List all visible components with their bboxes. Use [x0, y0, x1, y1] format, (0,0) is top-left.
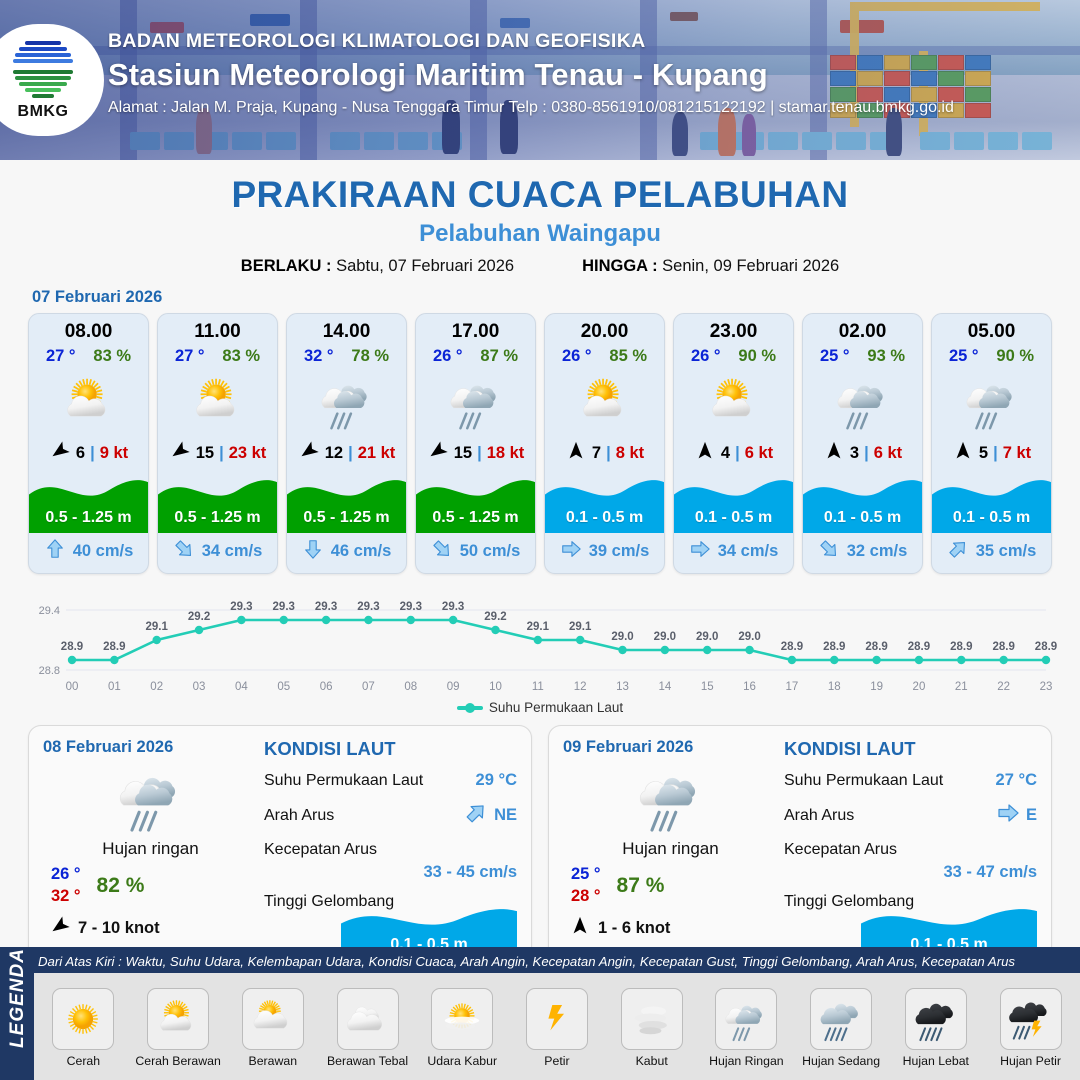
card-wave: 0.5 - 1.25 m	[29, 471, 148, 533]
legend-item-label: Udara Kabur	[427, 1054, 497, 1068]
card-temperature: 25 °	[949, 347, 979, 366]
panel-wind: 1 - 6 knot	[563, 915, 778, 942]
card-humidity: 83 %	[93, 347, 131, 366]
panel-temp-min: 25 °	[571, 865, 601, 884]
panel-sea-title: KONDISI LAUT	[784, 738, 1037, 760]
legend-item-label: Hujan Sedang	[802, 1054, 880, 1068]
card-gust: 18 kt	[487, 444, 525, 463]
current-direction-arrow-icon	[173, 538, 195, 565]
card-current: 35 cm/s	[932, 533, 1051, 573]
card-temperature: 26 °	[433, 347, 463, 366]
svg-text:28.8: 28.8	[39, 665, 60, 677]
card-wind: 4 | 6 kt	[674, 438, 793, 471]
legend-icon-box	[810, 988, 872, 1050]
card-humidity: 90 %	[996, 347, 1034, 366]
legend-icon-box	[147, 988, 209, 1050]
daily-forecast-panel: 08 Februari 2026 Hujan ringan 26 ° 32 °	[28, 725, 532, 973]
panel-humidity: 82 %	[97, 874, 145, 898]
card-current: 39 cm/s	[545, 533, 664, 573]
svg-text:29.0: 29.0	[654, 631, 676, 643]
card-temp-humidity: 32 ° 78 %	[287, 343, 406, 366]
header-text-block: BADAN METEOROLOGI KLIMATOLOGI DAN GEOFIS…	[108, 30, 954, 117]
panel-wind-direction-arrow-icon	[49, 915, 71, 942]
card-current: 50 cm/s	[416, 533, 535, 573]
panel-current-speed-value: 33 - 45 cm/s	[264, 863, 517, 882]
chart-legend: Suhu Permukaan Laut	[0, 700, 1080, 715]
svg-text:10: 10	[489, 681, 502, 693]
panel-temp-max: 32 °	[51, 887, 81, 906]
svg-text:04: 04	[235, 681, 248, 693]
card-current: 32 cm/s	[803, 533, 922, 573]
legend-item: Hujan Sedang	[796, 988, 886, 1068]
svg-text:00: 00	[66, 681, 79, 693]
svg-text:28.9: 28.9	[950, 641, 972, 653]
forecast-date-label: 07 Februari 2026	[32, 288, 1080, 307]
card-wave-height: 0.5 - 1.25 m	[287, 509, 406, 527]
hingga-group: HINGGA : Senin, 09 Februari 2026	[582, 257, 839, 276]
legend-icon-box	[1000, 988, 1062, 1050]
card-wave-height: 0.5 - 1.25 m	[158, 509, 277, 527]
legend-item: Hujan Ringan	[701, 988, 791, 1068]
berlaku-group: BERLAKU : Sabtu, 07 Februari 2026	[241, 257, 514, 276]
card-wind-separator: |	[477, 444, 482, 463]
card-humidity: 85 %	[609, 347, 647, 366]
hourly-forecast-card: 17.00 26 ° 87 % 15 | 18 kt	[415, 313, 536, 574]
card-temperature: 32 °	[304, 347, 334, 366]
card-temperature: 27 °	[175, 347, 205, 366]
panel-current-dir-value: E	[996, 801, 1037, 830]
card-temp-humidity: 27 ° 83 %	[158, 343, 277, 366]
card-temperature: 26 °	[691, 347, 721, 366]
svg-text:29.3: 29.3	[442, 601, 464, 613]
panel-current-arrow-icon	[996, 801, 1020, 830]
panel-condition: Hujan ringan	[43, 839, 258, 859]
legend-icon-box	[242, 988, 304, 1050]
card-wind-separator: |	[219, 444, 224, 463]
card-wind: 7 | 8 kt	[545, 438, 664, 471]
svg-text:29.3: 29.3	[315, 601, 337, 613]
header-banner: BMKG BADAN METEOROLOGI KLIMATOLOGI DAN G…	[0, 0, 1080, 160]
svg-text:29.3: 29.3	[357, 601, 379, 613]
svg-text:28.9: 28.9	[823, 641, 845, 653]
panel-condition: Hujan ringan	[563, 839, 778, 859]
panel-wind-speed: 7 - 10 knot	[78, 919, 160, 938]
card-wind-separator: |	[864, 444, 869, 463]
panel-current-speed-row: Kecepatan Arus	[264, 841, 517, 859]
card-wind-speed: 7	[592, 444, 601, 463]
panel-current-speed-row: Kecepatan Arus	[784, 841, 1037, 859]
panel-current-dir-label: Arah Arus	[264, 807, 334, 825]
card-temp-humidity: 25 ° 93 %	[803, 343, 922, 366]
card-wave-height: 0.5 - 1.25 m	[416, 509, 535, 527]
hourly-forecast-card: 05.00 25 ° 90 % 5 | 7 kt	[931, 313, 1052, 574]
card-current: 40 cm/s	[29, 533, 148, 573]
card-weather-icon	[545, 366, 664, 438]
panel-sst-label: Suhu Permukaan Laut	[264, 772, 423, 790]
svg-text:07: 07	[362, 681, 375, 693]
card-weather-icon	[158, 366, 277, 438]
panel-current-speed-label: Kecepatan Arus	[784, 841, 897, 859]
card-time: 23.00	[674, 314, 793, 343]
weather-infographic: BMKG BADAN METEOROLOGI KLIMATOLOGI DAN G…	[0, 0, 1080, 1080]
card-temp-humidity: 26 ° 90 %	[674, 343, 793, 366]
chart-legend-label: Suhu Permukaan Laut	[489, 700, 623, 715]
legend-item-label: Hujan Lebat	[903, 1054, 969, 1068]
svg-text:11: 11	[532, 681, 544, 693]
wind-direction-arrow-icon	[694, 440, 716, 467]
card-current-speed: 46 cm/s	[331, 542, 392, 561]
current-direction-arrow-icon	[818, 538, 840, 565]
card-wave-height: 0.1 - 0.5 m	[545, 509, 664, 527]
card-temp-humidity: 27 ° 83 %	[29, 343, 148, 366]
panel-current-speed-label: Kecepatan Arus	[264, 841, 377, 859]
panel-wind: 7 - 10 knot	[43, 915, 258, 942]
card-wind-speed: 6	[76, 444, 85, 463]
card-wind-separator: |	[735, 444, 740, 463]
panel-right: KONDISI LAUT Suhu Permukaan Laut 29 °C A…	[258, 738, 517, 962]
svg-text:17: 17	[786, 681, 799, 693]
legend-item: Petir	[512, 988, 602, 1068]
svg-text:28.9: 28.9	[908, 641, 930, 653]
berlaku-label: BERLAKU :	[241, 257, 332, 275]
panel-weather-icon	[563, 759, 778, 837]
svg-text:05: 05	[277, 681, 290, 693]
card-wind: 12 | 21 kt	[287, 438, 406, 471]
panel-date: 09 Februari 2026	[563, 738, 778, 757]
legend-item: Berawan Tebal	[323, 988, 413, 1068]
current-direction-arrow-icon	[560, 538, 582, 565]
svg-text:29.1: 29.1	[527, 621, 550, 633]
card-temperature: 26 °	[562, 347, 592, 366]
station-address: Alamat : Jalan M. Praja, Kupang - Nusa T…	[108, 99, 954, 117]
panel-temps: 26 ° 32 °	[51, 865, 81, 906]
card-temp-humidity: 26 ° 87 %	[416, 343, 535, 366]
berlaku-value: Sabtu, 07 Februari 2026	[336, 257, 514, 275]
legend-item-label: Berawan Tebal	[327, 1054, 408, 1068]
page-title-block: PRAKIRAAN CUACA PELABUHAN Pelabuhan Wain…	[0, 174, 1080, 276]
card-wave: 0.1 - 0.5 m	[932, 471, 1051, 533]
wind-direction-arrow-icon	[565, 440, 587, 467]
legend-item-label: Cerah Berawan	[135, 1054, 220, 1068]
svg-text:28.9: 28.9	[781, 641, 803, 653]
card-wind-speed: 4	[721, 444, 730, 463]
wind-direction-arrow-icon	[823, 440, 845, 467]
card-humidity: 90 %	[738, 347, 776, 366]
card-time: 11.00	[158, 314, 277, 343]
card-temperature: 25 °	[820, 347, 850, 366]
legend-item-label: Hujan Ringan	[709, 1054, 784, 1068]
panel-temp-block: 25 ° 28 ° 87 %	[563, 865, 778, 906]
svg-text:28.9: 28.9	[992, 641, 1014, 653]
card-gust: 9 kt	[100, 444, 128, 463]
card-wind-separator: |	[90, 444, 95, 463]
card-current-speed: 50 cm/s	[460, 542, 521, 561]
card-wave: 0.1 - 0.5 m	[803, 471, 922, 533]
legend-items-row: Cerah Cerah Berawan	[34, 973, 1080, 1080]
panel-sst-row: Suhu Permukaan Laut 29 °C	[264, 771, 517, 790]
card-weather-icon	[29, 366, 148, 438]
station-name: Stasiun Meteorologi Maritim Tenau - Kupa…	[108, 57, 954, 93]
card-wave: 0.5 - 1.25 m	[158, 471, 277, 533]
svg-text:29.1: 29.1	[146, 621, 169, 633]
card-gust: 8 kt	[616, 444, 644, 463]
chart-legend-marker-icon	[457, 706, 483, 710]
svg-text:14: 14	[658, 681, 671, 693]
card-gust: 6 kt	[874, 444, 902, 463]
hingga-value: Senin, 09 Februari 2026	[662, 257, 839, 275]
hingga-label: HINGGA :	[582, 257, 657, 275]
panel-weather-icon	[43, 759, 258, 837]
svg-text:29.0: 29.0	[696, 631, 718, 643]
svg-text:22: 22	[997, 681, 1010, 693]
card-gust: 23 kt	[229, 444, 267, 463]
legend-item: Berawan	[228, 988, 318, 1068]
card-wind-speed: 5	[979, 444, 988, 463]
card-current: 34 cm/s	[158, 533, 277, 573]
legend-icon-box	[337, 988, 399, 1050]
card-wind-separator: |	[993, 444, 998, 463]
card-wave: 0.1 - 0.5 m	[545, 471, 664, 533]
daily-forecast-panels: 08 Februari 2026 Hujan ringan 26 ° 32 °	[0, 715, 1080, 973]
legend-item: Cerah	[38, 988, 128, 1068]
card-wind-speed: 12	[325, 444, 343, 463]
card-time: 08.00	[29, 314, 148, 343]
card-humidity: 87 %	[480, 347, 518, 366]
card-weather-icon	[416, 366, 535, 438]
card-weather-icon	[287, 366, 406, 438]
legend-item-label: Kabut	[636, 1054, 668, 1068]
wind-direction-arrow-icon	[49, 440, 71, 467]
panel-sst-value: 29 °C	[476, 771, 517, 790]
svg-text:09: 09	[447, 681, 460, 693]
agency-name: BADAN METEOROLOGI KLIMATOLOGI DAN GEOFIS…	[108, 30, 954, 53]
svg-text:29.1: 29.1	[569, 621, 592, 633]
svg-text:29.0: 29.0	[738, 631, 760, 643]
legend-item-label: Cerah	[67, 1054, 101, 1068]
panel-current-speed-value: 33 - 47 cm/s	[784, 863, 1037, 882]
card-wave-height: 0.1 - 0.5 m	[674, 509, 793, 527]
legend-side-text: LEGENDA	[7, 948, 29, 1048]
daily-forecast-panel: 09 Februari 2026 Hujan ringan 25 ° 28 °	[548, 725, 1052, 973]
legend-icon-box	[715, 988, 777, 1050]
svg-text:29.2: 29.2	[484, 611, 506, 623]
card-wind-separator: |	[606, 444, 611, 463]
svg-text:06: 06	[320, 681, 333, 693]
legend-side-label: LEGENDA	[0, 947, 34, 1080]
svg-text:20: 20	[913, 681, 926, 693]
current-direction-arrow-icon	[44, 538, 66, 565]
panel-sst-label: Suhu Permukaan Laut	[784, 772, 943, 790]
legend-item-label: Petir	[544, 1054, 569, 1068]
bmkg-logo-icon	[12, 39, 74, 101]
svg-text:29.0: 29.0	[611, 631, 633, 643]
legend-item: Cerah Berawan	[133, 988, 223, 1068]
svg-text:28.9: 28.9	[865, 641, 887, 653]
card-wave: 0.5 - 1.25 m	[416, 471, 535, 533]
card-humidity: 93 %	[867, 347, 905, 366]
card-current-speed: 34 cm/s	[718, 542, 779, 561]
legend-icon-box	[431, 988, 493, 1050]
card-weather-icon	[932, 366, 1051, 438]
panel-current-arrow-icon	[464, 801, 488, 830]
panel-current-dir-value: NE	[464, 801, 517, 830]
panel-right: KONDISI LAUT Suhu Permukaan Laut 27 °C A…	[778, 738, 1037, 962]
sst-chart: 29.428.828.90028.90129.10229.20329.30429…	[20, 588, 1060, 698]
hourly-forecast-card: 23.00 26 ° 90 % 4 | 6 kt	[673, 313, 794, 574]
panel-sst-value: 27 °C	[996, 771, 1037, 790]
card-time: 20.00	[545, 314, 664, 343]
card-time: 17.00	[416, 314, 535, 343]
svg-text:18: 18	[828, 681, 841, 693]
svg-text:28.9: 28.9	[61, 641, 83, 653]
svg-text:08: 08	[404, 681, 417, 693]
svg-text:28.9: 28.9	[103, 641, 125, 653]
card-temp-humidity: 26 ° 85 %	[545, 343, 664, 366]
card-humidity: 78 %	[351, 347, 389, 366]
panel-sst-row: Suhu Permukaan Laut 27 °C	[784, 771, 1037, 790]
bmkg-logo-text: BMKG	[18, 103, 69, 121]
svg-text:29.4: 29.4	[39, 605, 60, 617]
panel-temps: 25 ° 28 °	[571, 865, 601, 906]
panel-wind-speed: 1 - 6 knot	[598, 919, 670, 938]
hourly-forecast-card: 08.00 27 ° 83 % 6 | 9 kt	[28, 313, 149, 574]
legend-item-label: Berawan	[249, 1054, 298, 1068]
legend-item: Udara Kabur	[417, 988, 507, 1068]
legend-icon-box	[526, 988, 588, 1050]
svg-text:16: 16	[743, 681, 756, 693]
card-wind-speed: 15	[454, 444, 472, 463]
hourly-forecast-row: 08.00 27 ° 83 % 6 | 9 kt	[0, 313, 1080, 574]
card-wave-height: 0.1 - 0.5 m	[932, 509, 1051, 527]
svg-text:15: 15	[701, 681, 714, 693]
svg-text:29.3: 29.3	[273, 601, 295, 613]
panel-current-dir-text: E	[1026, 806, 1037, 825]
card-wind: 5 | 7 kt	[932, 438, 1051, 471]
card-wind-separator: |	[348, 444, 353, 463]
current-direction-arrow-icon	[689, 538, 711, 565]
card-wind-speed: 3	[850, 444, 859, 463]
wind-direction-arrow-icon	[169, 440, 191, 467]
hourly-forecast-card: 02.00 25 ° 93 % 3 | 6 kt	[802, 313, 923, 574]
page-subtitle: Pelabuhan Waingapu	[0, 220, 1080, 248]
legend-icon-box	[621, 988, 683, 1050]
legend-item-label: Hujan Petir	[1000, 1054, 1061, 1068]
legend-icon-box	[52, 988, 114, 1050]
panel-temp-max: 28 °	[571, 887, 601, 906]
card-wave: 0.1 - 0.5 m	[674, 471, 793, 533]
card-current: 34 cm/s	[674, 533, 793, 573]
panel-current-dir-row: Arah Arus NE	[264, 801, 517, 830]
svg-text:12: 12	[574, 681, 587, 693]
card-gust: 7 kt	[1003, 444, 1031, 463]
hourly-forecast-card: 11.00 27 ° 83 % 15 | 23 kt	[157, 313, 278, 574]
panel-temp-block: 26 ° 32 ° 82 %	[43, 865, 258, 906]
svg-text:21: 21	[955, 681, 968, 693]
card-wave-height: 0.1 - 0.5 m	[803, 509, 922, 527]
svg-text:02: 02	[150, 681, 163, 693]
svg-text:19: 19	[870, 681, 883, 693]
card-time: 05.00	[932, 314, 1051, 343]
legend-bar: LEGENDA Dari Atas Kiri : Waktu, Suhu Uda…	[0, 947, 1080, 1080]
card-humidity: 83 %	[222, 347, 260, 366]
card-time: 14.00	[287, 314, 406, 343]
svg-text:23: 23	[1040, 681, 1053, 693]
hourly-forecast-card: 20.00 26 ° 85 % 7 | 8 kt	[544, 313, 665, 574]
svg-text:29.3: 29.3	[230, 601, 252, 613]
panel-current-dir-label: Arah Arus	[784, 807, 854, 825]
card-current: 46 cm/s	[287, 533, 406, 573]
card-weather-icon	[674, 366, 793, 438]
card-wind: 3 | 6 kt	[803, 438, 922, 471]
card-wind: 15 | 18 kt	[416, 438, 535, 471]
svg-text:29.2: 29.2	[188, 611, 210, 623]
card-weather-icon	[803, 366, 922, 438]
validity-row: BERLAKU : Sabtu, 07 Februari 2026 HINGGA…	[0, 257, 1080, 276]
card-temperature: 27 °	[46, 347, 76, 366]
panel-current-dir-text: NE	[494, 806, 517, 825]
legend-item: Hujan Petir	[986, 988, 1076, 1068]
svg-text:03: 03	[193, 681, 206, 693]
current-direction-arrow-icon	[947, 538, 969, 565]
panel-date: 08 Februari 2026	[43, 738, 258, 757]
page-title: PRAKIRAAN CUACA PELABUHAN	[0, 174, 1080, 216]
panel-humidity: 87 %	[617, 874, 665, 898]
panel-wind-direction-arrow-icon	[569, 915, 591, 942]
card-current-speed: 40 cm/s	[73, 542, 134, 561]
svg-text:29.3: 29.3	[400, 601, 422, 613]
wind-direction-arrow-icon	[952, 440, 974, 467]
card-current-speed: 35 cm/s	[976, 542, 1037, 561]
svg-text:01: 01	[108, 681, 121, 693]
card-wave: 0.5 - 1.25 m	[287, 471, 406, 533]
legend-note: Dari Atas Kiri : Waktu, Suhu Udara, Kele…	[34, 947, 1080, 973]
card-current-speed: 32 cm/s	[847, 542, 908, 561]
card-wind: 15 | 23 kt	[158, 438, 277, 471]
panel-left: 08 Februari 2026 Hujan ringan 26 ° 32 °	[43, 738, 258, 962]
wind-direction-arrow-icon	[427, 440, 449, 467]
hourly-forecast-card: 14.00 32 ° 78 % 12 | 21 kt	[286, 313, 407, 574]
card-temp-humidity: 25 ° 90 %	[932, 343, 1051, 366]
card-time: 02.00	[803, 314, 922, 343]
card-gust: 21 kt	[358, 444, 396, 463]
card-gust: 6 kt	[745, 444, 773, 463]
card-current-speed: 39 cm/s	[589, 542, 650, 561]
current-direction-arrow-icon	[302, 538, 324, 565]
legend-item: Hujan Lebat	[891, 988, 981, 1068]
current-direction-arrow-icon	[431, 538, 453, 565]
panel-sea-title: KONDISI LAUT	[264, 738, 517, 760]
card-wave-height: 0.5 - 1.25 m	[29, 509, 148, 527]
panel-left: 09 Februari 2026 Hujan ringan 25 ° 28 °	[563, 738, 778, 962]
card-current-speed: 34 cm/s	[202, 542, 263, 561]
legend-item: Kabut	[607, 988, 697, 1068]
svg-text:13: 13	[616, 681, 629, 693]
legend-icon-box	[905, 988, 967, 1050]
card-wind-speed: 15	[196, 444, 214, 463]
svg-text:28.9: 28.9	[1035, 641, 1057, 653]
card-wind: 6 | 9 kt	[29, 438, 148, 471]
wind-direction-arrow-icon	[298, 440, 320, 467]
panel-temp-min: 26 °	[51, 865, 81, 884]
panel-current-dir-row: Arah Arus E	[784, 801, 1037, 830]
